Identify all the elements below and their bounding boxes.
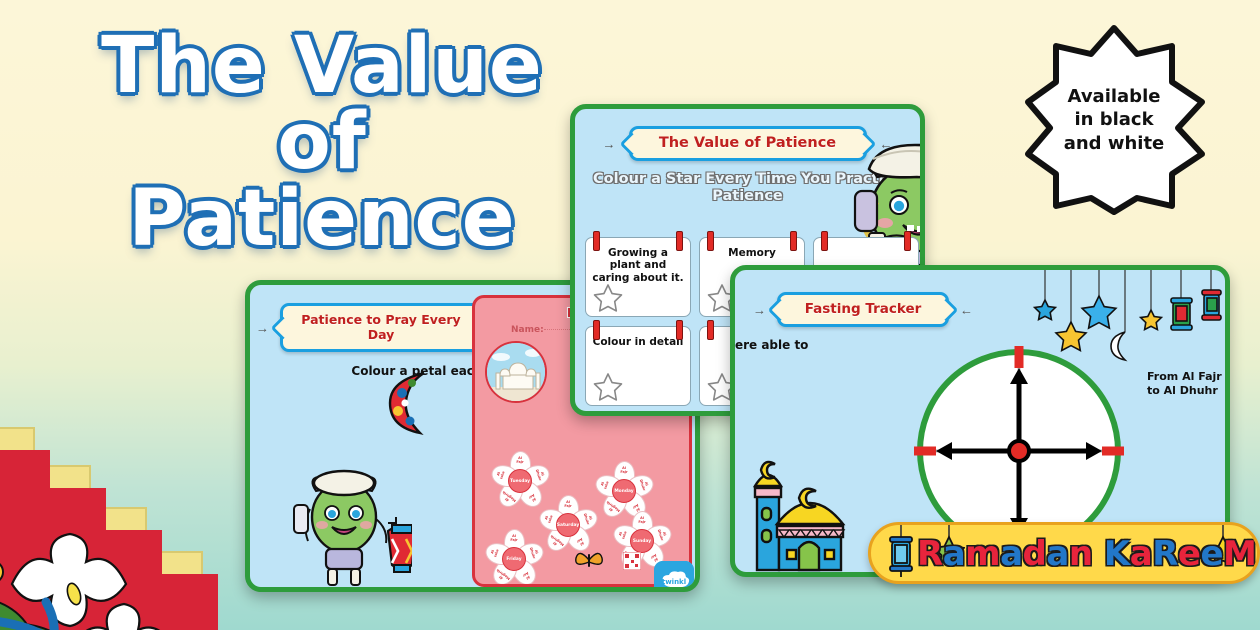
prayer-petal-label: AlMaghrib [547,534,564,549]
blue-mosque-icon [743,438,855,577]
ramadan-letter: e [1200,534,1223,574]
flower-day-label: Monday [612,479,636,503]
svg-text:twinkl: twinkl [662,578,686,586]
prayer-petal-label: AlDhuhr [656,528,666,541]
prayer-petal-label: AlDhuhr [582,512,592,525]
ramadan-letter [1093,534,1104,574]
prayer-petal-label: AlIsha [618,530,627,540]
ramadan-letter: a [1000,534,1022,574]
prayer-petal-label: AlIsha [490,548,499,558]
prayer-petal-label: AlFajr [638,517,645,524]
prayer-petal-label: AlIsha [600,480,609,490]
page-title: The Value of Patience [62,28,582,257]
clip-icon [676,231,683,251]
clip-icon [790,231,797,251]
arrow-left-icon: → [603,136,616,151]
clip-icon [707,320,714,340]
available-in-black-and-white-badge: Available in black and white [1022,24,1206,216]
crescent-moon-icon [384,369,436,435]
ramadan-letter: a [943,534,965,574]
qr-code-icon [623,552,641,570]
prayer-petal-label: AlDhuhr [534,468,544,481]
prayer-petal-label: AlMaghrib [499,490,516,505]
ramadan-letter: a [1046,534,1068,574]
flower-day-label: Tuesday [508,469,532,493]
prayer-petal-label: AlIsha [544,514,553,524]
pray-card-title: Patience to Pray Every Day [280,303,482,352]
ramadan-letter: n [1069,534,1093,574]
patience-box-label: Growing a plant and caring about it. [592,247,683,284]
clip-icon [593,231,600,251]
butterfly-icon [575,550,603,570]
value-title-plaque-wrap: → The Value of Patience ← [629,126,867,161]
prayer-flower[interactable]: AlFajrAlDhuhrAlAsrAlMaghribAlIshaFriday [483,528,545,587]
patience-box-label: Memory [728,247,776,259]
bw-badge-label: Available in black and white [1022,24,1206,216]
green-monster-with-lantern-icon [292,465,412,592]
clip-icon [904,231,911,251]
ramadan-letter: M [1223,534,1256,574]
title-line-2: Patience [62,181,582,257]
patience-box-label: Colour in detail [593,336,684,348]
prayer-petal-label: AlAsr [575,537,584,546]
ramadan-letter: K [1104,534,1130,574]
islamic-floral-corner-ornament-icon [0,388,224,630]
prayer-petal-label: AlFajr [510,535,517,542]
twinkl-watermark-logo: twinkl [654,561,694,592]
arrow-left-icon: → [256,320,269,335]
flower-day-label: Friday [502,547,526,571]
patience-star-box[interactable]: Colour in detail [585,326,691,406]
prayer-flower[interactable]: AlFajrAlDhuhrAlAsrAlMaghribAlIshaSaturda… [537,494,599,556]
fasting-card-title: Fasting Tracker [777,292,949,327]
ramadan-letter: d [1023,534,1047,574]
prayer-petal-label: AlMaghrib [493,568,510,583]
arrow-left-icon: → [753,302,766,317]
prayer-petal-label: AlAsr [527,493,536,502]
ramadan-letter: a [1130,534,1152,574]
value-card-title: The Value of Patience [629,126,867,161]
fasting-card-subtitle: Colour how far you were able to fast tod… [730,338,815,368]
fasting-range-note: From Al Fajr to Al Dhuhr [1147,370,1230,398]
clip-icon [676,320,683,340]
ramadan-letter: R [1152,534,1178,574]
arrow-right-icon: ← [960,302,973,317]
prayer-petal-label: AlFajr [564,501,571,508]
title-line-1: The Value of [101,21,543,187]
ramadan-kareem-banner: Ramadan KaReeM [868,522,1260,584]
mosque-photo-circle [485,341,547,403]
name-label-text: Name: [511,325,544,335]
prayer-petal-label: AlDhuhr [528,546,538,559]
ramadan-letter: m [965,534,1000,574]
clip-icon [821,231,828,251]
prayer-petal-label: AlAsr [521,571,530,580]
poster-stage: The Value of Patience → Patience to Pray… [0,0,1260,630]
prayer-petal-label: AlFajr [620,467,627,474]
prayer-petal-label: AlDhuhr [638,478,648,491]
clip-icon [593,320,600,340]
ramadan-kareem-text: Ramadan KaReeM [917,534,1256,574]
patience-star-box[interactable]: Growing a plant and caring about it. [585,237,691,317]
clip-icon [707,231,714,251]
flower-day-label: Saturday [556,513,580,537]
ramadan-letter: R [917,534,943,574]
ramadan-letter: e [1178,534,1201,574]
prayer-petal-label: AlFajr [516,457,523,464]
pray-title-plaque-wrap: → Patience to Pray Every Day ← [280,303,482,352]
flower-day-label: Sunday [630,529,654,553]
fasting-title-plaque-wrap: → Fasting Tracker ← [777,292,949,327]
prayer-petal-label: AlIsha [496,470,505,480]
